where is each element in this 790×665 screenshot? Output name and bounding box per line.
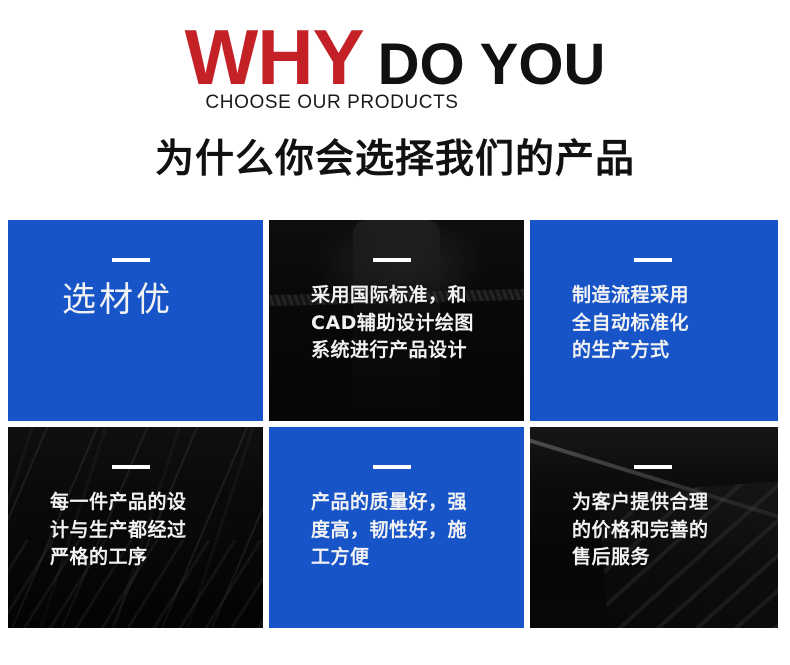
divider-dash <box>373 258 411 262</box>
divider-dash <box>373 465 411 469</box>
feature-text: 每一件产品的设 计与生产都经过 严格的工序 <box>50 489 243 572</box>
subtitle-chinese: 为什么你会选择我们的产品 <box>0 128 790 184</box>
feature-cell-quality-control[interactable]: 每一件产品的设 计与生产都经过 严格的工序 <box>8 427 263 628</box>
headline-do-you: DO YOU <box>378 32 606 97</box>
feature-cell-process[interactable]: 制造流程采用 全自动标准化 的生产方式 <box>530 220 778 421</box>
headline-why: WHY <box>185 13 364 101</box>
feature-cell-material[interactable]: 选材优 <box>8 220 263 421</box>
feature-cell-performance[interactable]: 产品的质量好，强 度高，韧性好，施 工方便 <box>269 427 524 628</box>
divider-dash <box>634 465 672 469</box>
feature-text: 制造流程采用 全自动标准化 的生产方式 <box>572 282 758 365</box>
divider-dash <box>112 258 150 262</box>
feature-text: 选材优 <box>50 276 243 325</box>
divider-dash <box>112 465 150 469</box>
page-header: WHYDO YOU CHOOSE OUR PRODUCTS 为什么你会选择我们的… <box>0 0 790 215</box>
divider-dash <box>634 258 672 262</box>
feature-text: 采用国际标准，和 CAD辅助设计绘图 系统进行产品设计 <box>311 282 504 365</box>
feature-text: 为客户提供合理 的价格和完善的 售后服务 <box>572 489 758 572</box>
promo-page: WHYDO YOU CHOOSE OUR PRODUCTS 为什么你会选择我们的… <box>0 0 790 665</box>
subtitle-english: CHOOSE OUR PRODUCTS <box>0 92 790 114</box>
feature-grid: 选材优 采用国际标准，和 CAD辅助设计绘图 系统进行产品设计 制造流程采用 全… <box>8 220 782 640</box>
feature-cell-standard[interactable]: 采用国际标准，和 CAD辅助设计绘图 系统进行产品设计 <box>269 220 524 421</box>
feature-text: 产品的质量好，强 度高，韧性好，施 工方便 <box>311 489 504 572</box>
headline: WHYDO YOU <box>0 18 790 96</box>
feature-cell-service[interactable]: 为客户提供合理 的价格和完善的 售后服务 <box>530 427 778 628</box>
